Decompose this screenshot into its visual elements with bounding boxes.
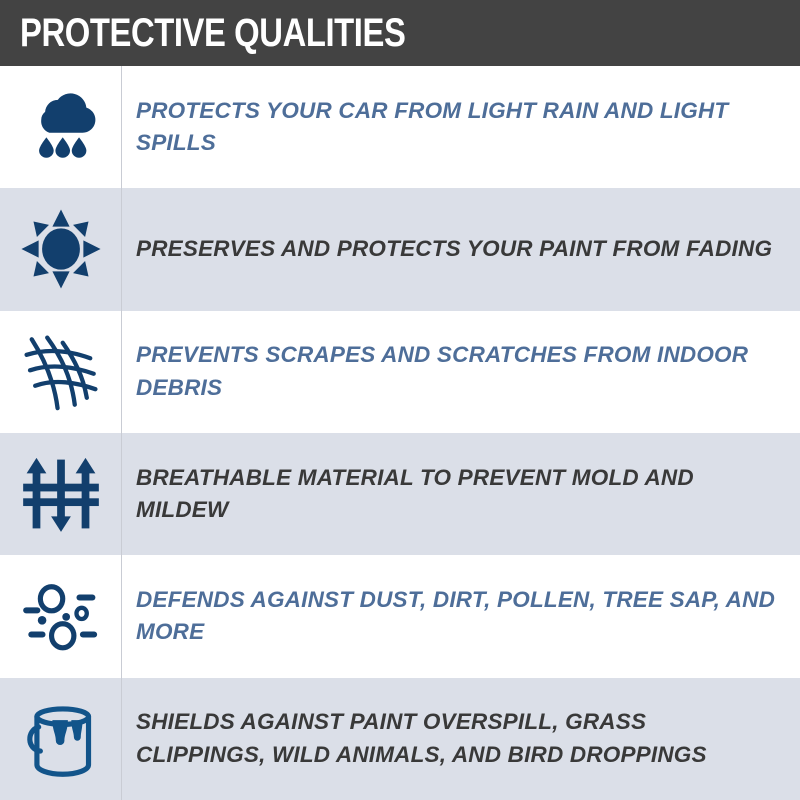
feature-label: PREVENTS SCRAPES AND SCRATCHES FROM INDO… xyxy=(136,339,778,404)
sun-icon xyxy=(18,206,104,292)
feature-label: PRESERVES AND PROTECTS YOUR PAINT FROM F… xyxy=(136,233,772,266)
protective-qualities-infographic: PROTECTIVE QUALITIES PROTEC xyxy=(0,0,800,800)
icon-cell xyxy=(0,311,122,433)
feature-row: PROTECTS YOUR CAR FROM LIGHT RAIN AND LI… xyxy=(0,66,800,188)
rain-cloud-icon xyxy=(18,84,104,170)
page-title: PROTECTIVE QUALITIES xyxy=(20,13,405,53)
paint-can-icon xyxy=(18,696,104,782)
text-cell: PRESERVES AND PROTECTS YOUR PAINT FROM F… xyxy=(122,188,800,310)
text-cell: PREVENTS SCRAPES AND SCRATCHES FROM INDO… xyxy=(122,311,800,433)
scratch-mesh-icon xyxy=(18,329,104,415)
feature-row: PRESERVES AND PROTECTS YOUR PAINT FROM F… xyxy=(0,188,800,310)
header-bar: PROTECTIVE QUALITIES xyxy=(0,0,800,66)
feature-label: SHIELDS AGAINST PAINT OVERSPILL, GRASS C… xyxy=(136,706,778,771)
icon-cell xyxy=(0,678,122,800)
text-cell: BREATHABLE MATERIAL TO PREVENT MOLD AND … xyxy=(122,433,800,555)
icon-cell xyxy=(0,555,122,677)
feature-label: PROTECTS YOUR CAR FROM LIGHT RAIN AND LI… xyxy=(136,95,778,160)
feature-row: SHIELDS AGAINST PAINT OVERSPILL, GRASS C… xyxy=(0,678,800,800)
text-cell: SHIELDS AGAINST PAINT OVERSPILL, GRASS C… xyxy=(122,678,800,800)
dust-particles-icon xyxy=(18,573,104,659)
feature-label: BREATHABLE MATERIAL TO PREVENT MOLD AND … xyxy=(136,462,778,527)
feature-row: PREVENTS SCRAPES AND SCRATCHES FROM INDO… xyxy=(0,311,800,433)
feature-list: PROTECTS YOUR CAR FROM LIGHT RAIN AND LI… xyxy=(0,66,800,800)
text-cell: PROTECTS YOUR CAR FROM LIGHT RAIN AND LI… xyxy=(122,66,800,188)
feature-row: BREATHABLE MATERIAL TO PREVENT MOLD AND … xyxy=(0,433,800,555)
feature-label: DEFENDS AGAINST DUST, DIRT, POLLEN, TREE… xyxy=(136,584,778,649)
feature-row: DEFENDS AGAINST DUST, DIRT, POLLEN, TREE… xyxy=(0,555,800,677)
breathable-airflow-icon xyxy=(18,451,104,537)
text-cell: DEFENDS AGAINST DUST, DIRT, POLLEN, TREE… xyxy=(122,555,800,677)
icon-cell xyxy=(0,433,122,555)
icon-cell xyxy=(0,66,122,188)
icon-cell xyxy=(0,188,122,310)
